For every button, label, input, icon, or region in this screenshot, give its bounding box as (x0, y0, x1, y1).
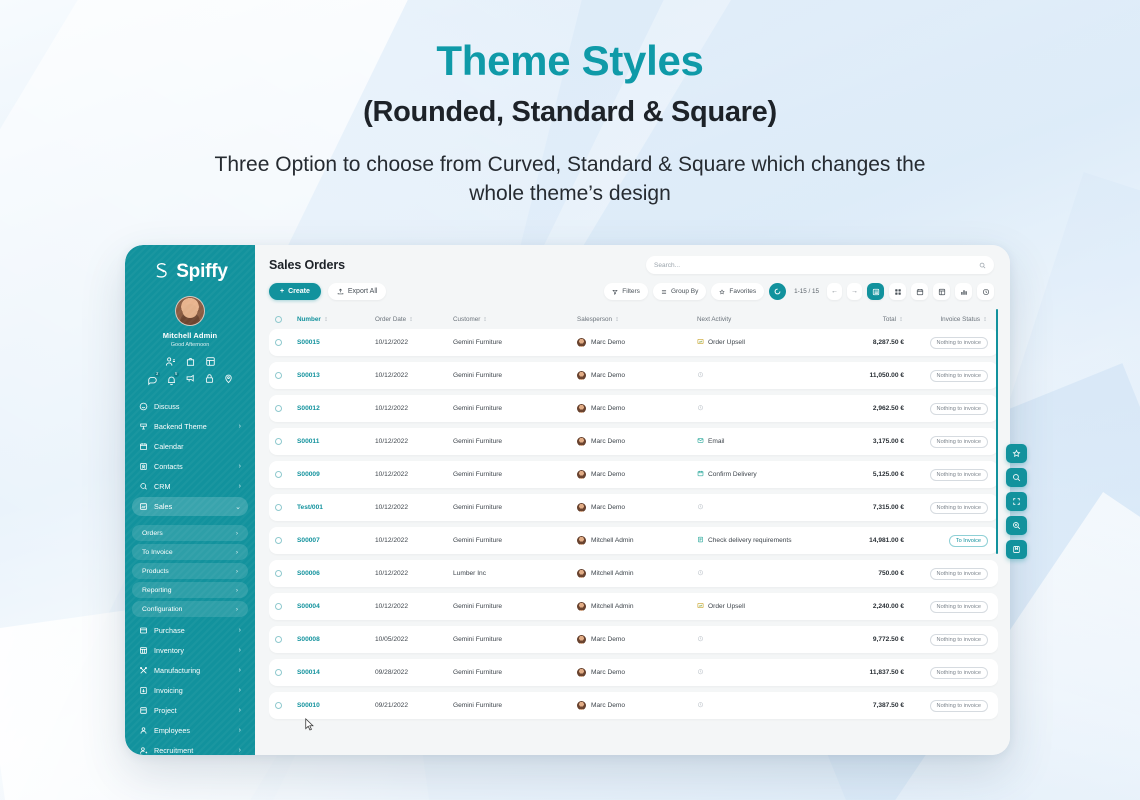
graph-view-button[interactable] (955, 283, 972, 300)
cell-total: 7,315.00 € (830, 504, 904, 511)
status-badge: Nothing to invoice (930, 370, 988, 382)
pivot-view-button[interactable] (933, 283, 950, 300)
cell-number[interactable]: S00004 (297, 603, 375, 610)
cell-total: 8,287.50 € (830, 339, 904, 346)
page-description: Three Option to choose from Curved, Stan… (200, 151, 940, 208)
brand-name: Spiffy (176, 261, 228, 283)
sidebar-subitem-to-invoice[interactable]: To Invoice › (132, 544, 248, 560)
row-select-cell (275, 669, 297, 676)
sidebar-item-label: Employees (154, 726, 233, 735)
table-row[interactable]: S0001009/21/2022Gemini FurnitureMarc Dem… (269, 692, 998, 719)
chevron-right-icon: › (239, 747, 241, 754)
cell-customer: Gemini Furniture (453, 438, 577, 445)
status-badge: Nothing to invoice (930, 403, 988, 415)
status-badge: Nothing to invoice (930, 667, 988, 679)
row-checkbox[interactable] (275, 438, 282, 445)
filters-label: Filters (622, 288, 640, 295)
sidebar-subitem-label: Configuration (142, 606, 236, 613)
calendar-view-icon (916, 288, 924, 296)
create-button[interactable]: + Create (269, 283, 321, 300)
sidebar-item-label: Project (154, 706, 233, 715)
cell-invoice-status: Nothing to invoice (904, 634, 988, 646)
cell-order-date: 10/05/2022 (375, 636, 453, 643)
salesperson-name: Marc Demo (591, 702, 625, 709)
table-row[interactable]: S0000710/12/2022Gemini FurnitureMitchell… (269, 527, 998, 554)
previous-page-button[interactable]: ← (827, 283, 842, 300)
activity-label: Order Upsell (708, 339, 745, 346)
project-icon (139, 706, 148, 715)
status-badge: Nothing to invoice (930, 337, 988, 349)
cell-total: 7,387.50 € (830, 702, 904, 709)
arrow-right-icon: → (851, 288, 858, 295)
cell-total: 3,175.00 € (830, 438, 904, 445)
sidebar-subitem-configuration[interactable]: Configuration › (132, 601, 248, 617)
rail-star-button[interactable] (1006, 444, 1027, 463)
spinner-icon (773, 287, 782, 296)
salesperson-name: Mitchell Admin (591, 570, 634, 577)
favorites-button[interactable]: Favorites (711, 283, 764, 300)
chat-badge: 3 (154, 371, 161, 378)
star-icon (1012, 449, 1021, 458)
export-all-button[interactable]: Export All (328, 283, 387, 300)
cell-next-activity: Order Upsell (697, 602, 830, 611)
inventory-icon (139, 646, 148, 655)
cell-total: 11,837.50 € (830, 669, 904, 676)
sidebar-item-label: Calendar (154, 442, 235, 451)
column-label: Order Date (375, 316, 406, 323)
cell-number[interactable]: S00006 (297, 570, 375, 577)
table-row[interactable]: S0001310/12/2022Gemini FurnitureMarc Dem… (269, 362, 998, 389)
sidebar-item-label: Inventory (154, 646, 233, 655)
table-row[interactable]: S0000810/05/2022Gemini FurnitureMarc Dem… (269, 626, 998, 653)
cell-order-date: 10/12/2022 (375, 372, 453, 379)
avatar (577, 470, 586, 479)
user-name: Mitchell Admin (125, 331, 255, 340)
table-row[interactable]: S0000910/12/2022Gemini FurnitureMarc Dem… (269, 461, 998, 488)
sidebar-item-inventory[interactable]: Inventory › (132, 641, 248, 660)
cell-salesperson: Marc Demo (577, 437, 697, 446)
sidebar-item-purchase[interactable]: Purchase › (132, 621, 248, 640)
user-profile[interactable]: Mitchell Admin Good Afternoon (125, 296, 255, 348)
cell-invoice-status: To Invoice (904, 535, 988, 547)
clock-icon (697, 404, 704, 413)
cell-order-date: 10/12/2022 (375, 471, 453, 478)
cell-salesperson: Mitchell Admin (577, 602, 697, 611)
page-subtitle: (Rounded, Standard & Square) (0, 96, 1140, 129)
avatar (577, 338, 586, 347)
theme-icon (139, 422, 148, 431)
salesperson-name: Marc Demo (591, 636, 625, 643)
sidebar-subitem-orders[interactable]: Orders › (132, 525, 248, 541)
list-view-icon (872, 288, 880, 296)
column-header-customer[interactable]: Customer (453, 316, 577, 323)
loading-spinner-button[interactable] (769, 283, 786, 300)
clock-icon (697, 701, 704, 710)
cell-salesperson: Mitchell Admin (577, 536, 697, 545)
sidebar-item-employees[interactable]: Employees › (132, 721, 248, 740)
column-label: Number (297, 316, 321, 323)
column-header-total[interactable]: Total (830, 316, 904, 323)
cell-order-date: 10/12/2022 (375, 570, 453, 577)
row-checkbox[interactable] (275, 603, 282, 610)
status-badge: Nothing to invoice (930, 700, 988, 712)
cell-customer: Gemini Furniture (453, 603, 577, 610)
chevron-right-icon: › (239, 463, 241, 470)
cell-salesperson: Marc Demo (577, 635, 697, 644)
invoicing-icon (139, 686, 148, 695)
chart-line-icon (139, 502, 148, 511)
cell-salesperson: Marc Demo (577, 701, 697, 710)
row-select-cell (275, 372, 297, 379)
row-checkbox[interactable] (275, 405, 282, 412)
brand-logo[interactable]: Spiffy (125, 245, 255, 292)
sidebar-item-manufacturing[interactable]: Manufacturing › (132, 661, 248, 680)
sidebar-item-label: Purchase (154, 626, 233, 635)
cell-total: 5,125.00 € (830, 471, 904, 478)
crm-icon (139, 482, 148, 491)
row-select-cell (275, 702, 297, 709)
sidebar: Spiffy Mitchell Admin Good Afternoon 3 5 (125, 245, 255, 755)
star-icon (719, 289, 725, 295)
cell-customer: Gemini Furniture (453, 504, 577, 511)
lock-icon[interactable] (204, 373, 215, 384)
table-row[interactable]: S0000410/12/2022Gemini FurnitureMitchell… (269, 593, 998, 620)
purchase-icon (139, 626, 148, 635)
sidebar-subitem-label: Products (142, 568, 236, 575)
sidebar-subitem-products[interactable]: Products › (132, 563, 248, 579)
sidebar-item-recruitment[interactable]: Recruitment › (132, 741, 248, 755)
column-label: Total (883, 316, 896, 323)
cell-customer: Gemini Furniture (453, 339, 577, 346)
status-badge: Nothing to invoice (930, 469, 988, 481)
cell-total: 2,240.00 € (830, 603, 904, 610)
status-badge: To Invoice (949, 535, 988, 547)
cell-salesperson: Marc Demo (577, 470, 697, 479)
cell-next-activity: Confirm Delivery (697, 470, 830, 479)
cell-order-date: 10/12/2022 (375, 405, 453, 412)
cell-order-date: 09/21/2022 (375, 702, 453, 709)
cell-invoice-status: Nothing to invoice (904, 337, 988, 349)
chevron-right-icon: › (239, 667, 241, 674)
chevron-right-icon: › (239, 423, 241, 430)
save-icon (1012, 545, 1021, 554)
chat-bubble-icon[interactable]: 3 (147, 373, 158, 384)
avatar (577, 668, 586, 677)
cell-order-date: 10/12/2022 (375, 438, 453, 445)
pagination-count: 1-15 / 15 (791, 288, 822, 295)
table-row[interactable]: S0001210/12/2022Gemini FurnitureMarc Dem… (269, 395, 998, 422)
kanban-view-icon (894, 288, 902, 296)
row-checkbox[interactable] (275, 702, 282, 709)
contacts-icon (139, 462, 148, 471)
rail-save-button[interactable] (1006, 540, 1027, 559)
cell-order-date: 10/12/2022 (375, 339, 453, 346)
column-label: Salesperson (577, 316, 612, 323)
cell-next-activity: Email (697, 437, 830, 446)
cell-salesperson: Mitchell Admin (577, 569, 697, 578)
chevron-right-icon: › (236, 606, 238, 613)
sidebar-item-label: Contacts (154, 462, 233, 471)
row-select-cell (275, 504, 297, 511)
cell-invoice-status: Nothing to invoice (904, 568, 988, 580)
bell-icon[interactable]: 5 (166, 373, 177, 384)
column-label: Customer (453, 316, 480, 323)
clock-icon (697, 503, 704, 512)
sidebar-item-invoicing[interactable]: Invoicing › (132, 681, 248, 700)
export-icon (337, 288, 344, 295)
chevron-right-icon: › (239, 627, 241, 634)
cell-next-activity: Order Upsell (697, 338, 830, 347)
sidebar-item-project[interactable]: Project › (132, 701, 248, 720)
row-checkbox[interactable] (275, 537, 282, 544)
cell-salesperson: Marc Demo (577, 338, 697, 347)
pin-icon[interactable] (223, 373, 234, 384)
spiffy-logo-icon (152, 261, 171, 283)
cell-total: 2,962.50 € (830, 405, 904, 412)
top-toolbar: Sales Orders Search... + Create Export A… (255, 245, 1010, 300)
cell-next-activity (697, 668, 830, 677)
sidebar-item-discuss[interactable]: Discuss (132, 397, 248, 416)
cell-total: 11,050.00 € (830, 372, 904, 379)
clock-icon (697, 569, 704, 578)
sidebar-menu-2: Purchase › Inventory › Manufacturing › I… (125, 621, 255, 755)
cell-invoice-status: Nothing to invoice (904, 436, 988, 448)
row-select-cell (275, 405, 297, 412)
recruitment-icon (139, 746, 148, 755)
column-header-invoice-status[interactable]: Invoice Status (904, 316, 988, 323)
arrow-left-icon: ← (831, 288, 838, 295)
megaphone-icon[interactable] (185, 373, 196, 384)
cell-number[interactable]: Test/001 (297, 504, 375, 511)
clock-icon (697, 635, 704, 644)
cell-order-date: 09/28/2022 (375, 669, 453, 676)
cell-salesperson: Marc Demo (577, 668, 697, 677)
sort-icon (483, 316, 488, 322)
chevron-right-icon: › (239, 483, 241, 490)
bag-icon[interactable] (185, 356, 196, 367)
cell-number[interactable]: S00015 (297, 339, 375, 346)
clock-icon (697, 371, 704, 380)
status-badge: Nothing to invoice (930, 634, 988, 646)
activity-label: Confirm Delivery (708, 471, 757, 478)
sort-icon (615, 316, 620, 322)
row-checkbox[interactable] (275, 339, 282, 346)
select-all-checkbox[interactable] (275, 316, 282, 323)
column-label: Next Activity (697, 316, 731, 323)
cell-customer: Gemini Furniture (453, 372, 577, 379)
row-checkbox[interactable] (275, 669, 282, 676)
row-select-cell (275, 471, 297, 478)
clock-icon (697, 668, 704, 677)
mouse-cursor (305, 718, 314, 731)
avatar (577, 437, 586, 446)
column-header-salesperson[interactable]: Salesperson (577, 316, 697, 323)
rail-fullscreen-button[interactable] (1006, 492, 1027, 511)
cell-order-date: 10/12/2022 (375, 504, 453, 511)
column-header-number[interactable]: Number (297, 316, 375, 323)
next-page-button[interactable]: → (847, 283, 862, 300)
chevron-right-icon: › (236, 530, 238, 537)
plus-icon: + (280, 288, 284, 295)
calendar-view-button[interactable] (911, 283, 928, 300)
cell-number[interactable]: S00013 (297, 372, 375, 379)
sidebar-item-backend-theme[interactable]: Backend Theme › (132, 417, 248, 436)
table-row[interactable]: Test/00110/12/2022Gemini FurnitureMarc D… (269, 494, 998, 521)
cell-customer: Gemini Furniture (453, 636, 577, 643)
status-badge: Nothing to invoice (930, 436, 988, 448)
sidebar-item-crm[interactable]: CRM › (132, 477, 248, 496)
row-select-cell (275, 636, 297, 643)
zoom-in-icon (1012, 521, 1021, 530)
table-row[interactable]: S0000610/12/2022Lumber IncMitchell Admin… (269, 560, 998, 587)
column-header-next-activity[interactable]: Next Activity (697, 316, 830, 323)
salesperson-name: Mitchell Admin (591, 603, 634, 610)
select-all-cell (275, 316, 297, 323)
kanban-view-button[interactable] (889, 283, 906, 300)
graph-view-icon (960, 288, 968, 296)
cell-order-date: 10/12/2022 (375, 537, 453, 544)
fullscreen-icon (1012, 497, 1021, 506)
avatar (577, 602, 586, 611)
employees-icon (139, 726, 148, 735)
avatar (577, 503, 586, 512)
chevron-right-icon: › (239, 647, 241, 654)
sidebar-subitem-reporting[interactable]: Reporting › (132, 582, 248, 598)
table-scrollbar[interactable] (996, 309, 999, 554)
quick-icons-row-1 (125, 356, 255, 367)
activity-view-icon (982, 288, 990, 296)
export-label: Export All (348, 288, 378, 295)
user-greeting: Good Afternoon (125, 342, 255, 348)
bell-badge: 5 (173, 371, 180, 378)
activity-label: Order Upsell (708, 603, 745, 610)
chevron-right-icon: › (239, 687, 241, 694)
chevron-down-icon: ⌄ (235, 503, 241, 511)
group-by-label: Group By (671, 288, 698, 295)
column-header-order-date[interactable]: Order Date (375, 316, 453, 323)
favorites-label: Favorites (729, 288, 756, 295)
sidebar-item-calendar[interactable]: Calendar (132, 437, 248, 456)
row-select-cell (275, 438, 297, 445)
cell-next-activity: Check delivery requirements (697, 536, 830, 545)
users-icon[interactable] (165, 356, 176, 367)
avatar (175, 296, 205, 326)
salesperson-name: Marc Demo (591, 339, 625, 346)
row-select-cell (275, 339, 297, 346)
search-input[interactable]: Search... (646, 256, 994, 274)
floating-action-rail (1006, 444, 1027, 559)
cell-number[interactable]: S00014 (297, 669, 375, 676)
row-select-cell (275, 570, 297, 577)
cell-next-activity (697, 503, 830, 512)
table-body: S0001510/12/2022Gemini FurnitureMarc Dem… (269, 329, 998, 755)
avatar (577, 404, 586, 413)
avatar (577, 536, 586, 545)
avatar (577, 569, 586, 578)
salesperson-name: Mitchell Admin (591, 537, 634, 544)
cell-number[interactable]: S00012 (297, 405, 375, 412)
search-icon (979, 262, 986, 269)
email-icon (697, 437, 704, 446)
status-badge: Nothing to invoice (930, 601, 988, 613)
cell-number[interactable]: S00009 (297, 471, 375, 478)
filters-button[interactable]: Filters (604, 283, 648, 300)
chart-icon (697, 338, 704, 347)
cell-customer: Gemini Furniture (453, 669, 577, 676)
grid-icon[interactable] (205, 356, 216, 367)
calendar-icon (139, 442, 148, 451)
cell-invoice-status: Nothing to invoice (904, 700, 988, 712)
row-checkbox[interactable] (275, 636, 282, 643)
table-row[interactable]: S0001510/12/2022Gemini FurnitureMarc Dem… (269, 329, 998, 356)
row-checkbox[interactable] (275, 504, 282, 511)
cell-next-activity (697, 701, 830, 710)
sidebar-subitem-label: To Invoice (142, 549, 236, 556)
row-checkbox[interactable] (275, 372, 282, 379)
sidebar-menu: Discuss Backend Theme › Calendar Contact… (125, 397, 255, 525)
cell-invoice-status: Nothing to invoice (904, 370, 988, 382)
rail-search-button[interactable] (1006, 468, 1027, 487)
cell-number[interactable]: S00011 (297, 438, 375, 445)
row-checkbox[interactable] (275, 471, 282, 478)
create-label: Create (288, 288, 310, 295)
chevron-right-icon: › (239, 727, 241, 734)
sidebar-submenu-sales: Orders › To Invoice › Products › Reporti… (125, 525, 255, 617)
page-title: Theme Styles (0, 38, 1140, 84)
sidebar-item-contacts[interactable]: Contacts › (132, 457, 248, 476)
rail-zoom-in-button[interactable] (1006, 516, 1027, 535)
cell-salesperson: Marc Demo (577, 371, 697, 380)
cell-number[interactable]: S00008 (297, 636, 375, 643)
cell-order-date: 10/12/2022 (375, 603, 453, 610)
activity-view-button[interactable] (977, 283, 994, 300)
main-content: Sales Orders Search... + Create Export A… (255, 245, 1010, 755)
cell-invoice-status: Nothing to invoice (904, 667, 988, 679)
cell-next-activity (697, 404, 830, 413)
group-by-icon (661, 289, 667, 295)
row-checkbox[interactable] (275, 570, 282, 577)
avatar (577, 635, 586, 644)
sidebar-item-sales[interactable]: Sales ⌄ (132, 497, 248, 516)
sidebar-item-label: Recruitment (154, 746, 233, 755)
sidebar-item-label: Invoicing (154, 686, 233, 695)
sidebar-item-label: Manufacturing (154, 666, 233, 675)
cell-total: 750.00 € (830, 570, 904, 577)
group-by-button[interactable]: Group By (653, 283, 706, 300)
pivot-view-icon (938, 288, 946, 296)
column-label: Invoice Status (940, 316, 980, 323)
cell-customer: Gemini Furniture (453, 537, 577, 544)
cell-salesperson: Marc Demo (577, 503, 697, 512)
calendar-icon (697, 470, 704, 479)
list-view-button[interactable] (867, 283, 884, 300)
cell-salesperson: Marc Demo (577, 404, 697, 413)
cell-number[interactable]: S00010 (297, 702, 375, 709)
manufacturing-icon (139, 666, 148, 675)
note-icon (697, 536, 704, 545)
table-row[interactable]: S0001110/12/2022Gemini FurnitureMarc Dem… (269, 428, 998, 455)
search-icon (1012, 473, 1021, 482)
cell-next-activity (697, 371, 830, 380)
chevron-right-icon: › (236, 549, 238, 556)
sidebar-item-label: Backend Theme (154, 422, 233, 431)
table-row[interactable]: S0001409/28/2022Gemini FurnitureMarc Dem… (269, 659, 998, 686)
activity-label: Email (708, 438, 725, 445)
cell-number[interactable]: S00007 (297, 537, 375, 544)
sort-icon (324, 316, 329, 322)
sidebar-item-label: Sales (154, 502, 229, 511)
search-placeholder: Search... (654, 262, 973, 269)
